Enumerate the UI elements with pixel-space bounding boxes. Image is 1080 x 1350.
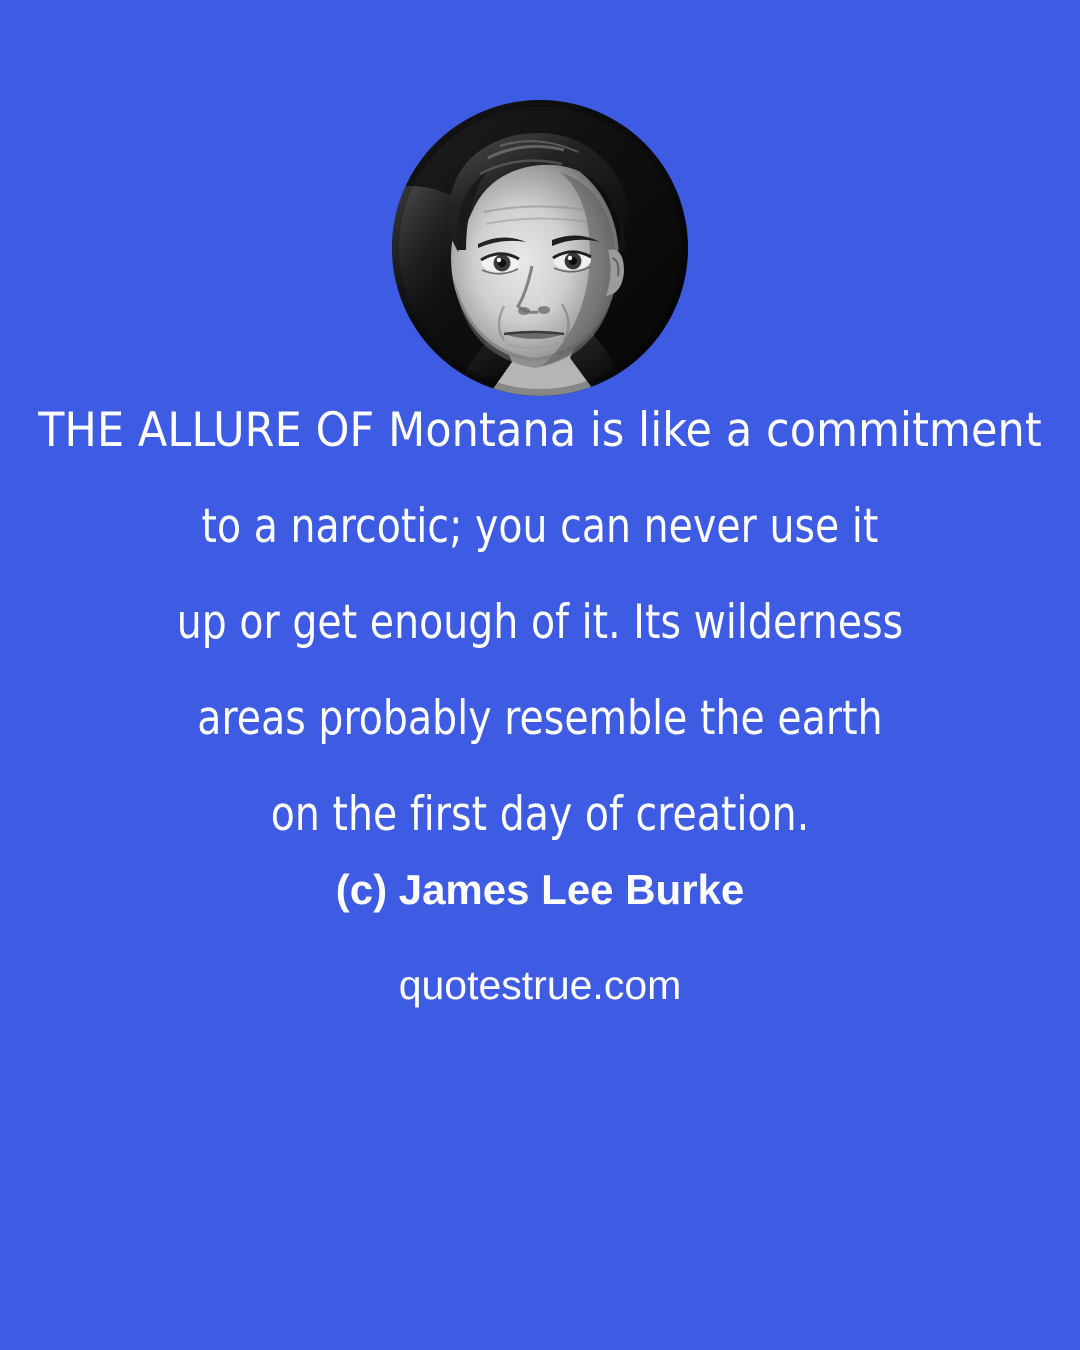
quote-line: up or get enough of it. Its wilderness: [38, 575, 1042, 671]
quote-line: to a narcotic; you can never use it: [38, 479, 1042, 575]
author-portrait: [392, 100, 688, 396]
quote-text: THE ALLURE OF Montana is like a commitme…: [0, 383, 1080, 863]
source-watermark: quotestrue.com: [0, 957, 1080, 1013]
quote-line: areas probably resemble the earth: [38, 671, 1042, 767]
author-attribution: (c) James Lee Burke: [0, 862, 1080, 918]
quote-line: THE ALLURE OF Montana is like a commitme…: [0, 383, 1080, 479]
quote-poster: THE ALLURE OF Montana is like a commitme…: [0, 0, 1080, 1350]
quote-line: on the first day of creation.: [38, 767, 1042, 863]
author-portrait-image: [392, 100, 688, 396]
